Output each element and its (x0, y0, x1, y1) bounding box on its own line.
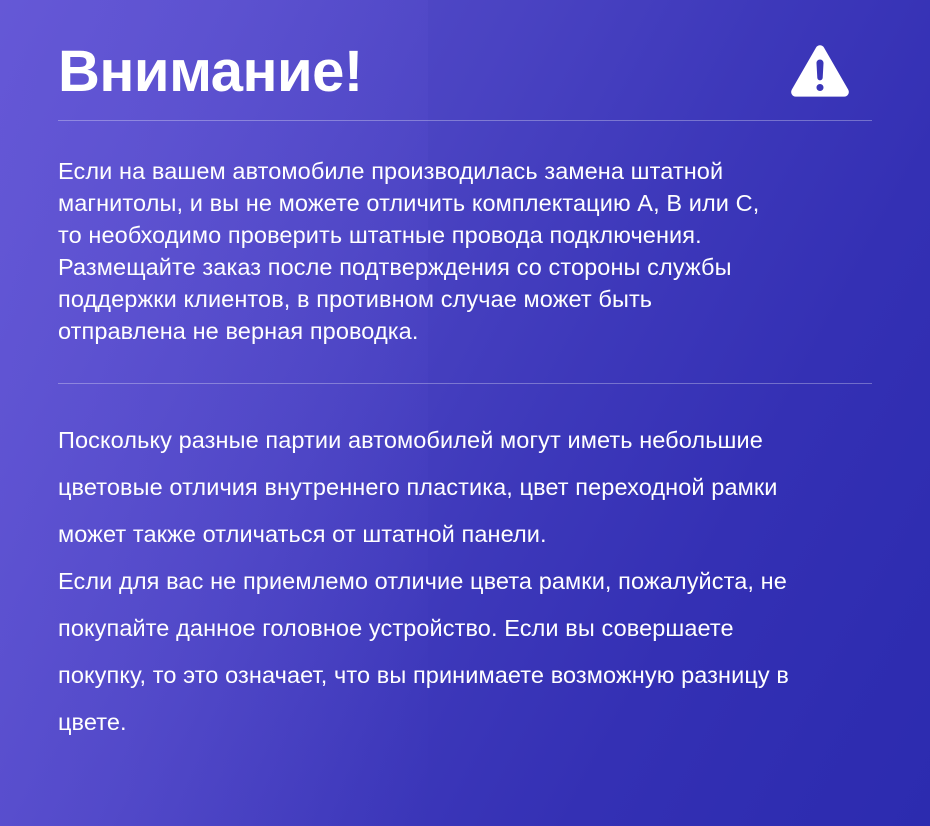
warning-banner: Внимание! Если на вашем автомобиле произ… (0, 0, 930, 826)
text-line: Если на вашем автомобиле производилась з… (58, 155, 872, 187)
text-line: то необходимо проверить штатные провода … (58, 219, 872, 251)
text-line: Поскольку разные партии автомобилей могу… (58, 417, 872, 464)
page-title: Внимание! (58, 43, 363, 101)
section-two-text: Поскольку разные партии автомобилей могу… (58, 417, 872, 558)
text-line: магнитолы, и вы не можете отличить компл… (58, 187, 872, 219)
divider-middle (58, 383, 872, 384)
banner-content: Внимание! Если на вашем автомобиле произ… (0, 0, 930, 746)
section-three-text: Если для вас не приемлемо отличие цвета … (58, 558, 872, 746)
text-line: отправлена не верная проводка. (58, 315, 872, 347)
text-line: цвете. (58, 699, 872, 746)
text-line: поддержки клиентов, в противном случае м… (58, 283, 872, 315)
text-line: цветовые отличия внутреннего пластика, ц… (58, 464, 872, 511)
text-line: Если для вас не приемлемо отличие цвета … (58, 558, 872, 605)
section-one-text: Если на вашем автомобиле производилась з… (58, 155, 872, 347)
text-line: Размещайте заказ после подтверждения со … (58, 251, 872, 283)
banner-header: Внимание! (58, 0, 872, 92)
text-line: покупку, то это означает, что вы принима… (58, 652, 872, 699)
text-line: покупайте данное головное устройство. Ес… (58, 605, 872, 652)
warning-triangle-icon (790, 44, 850, 100)
text-line: может также отличаться от штатной панели… (58, 511, 872, 558)
divider-top (58, 120, 872, 121)
